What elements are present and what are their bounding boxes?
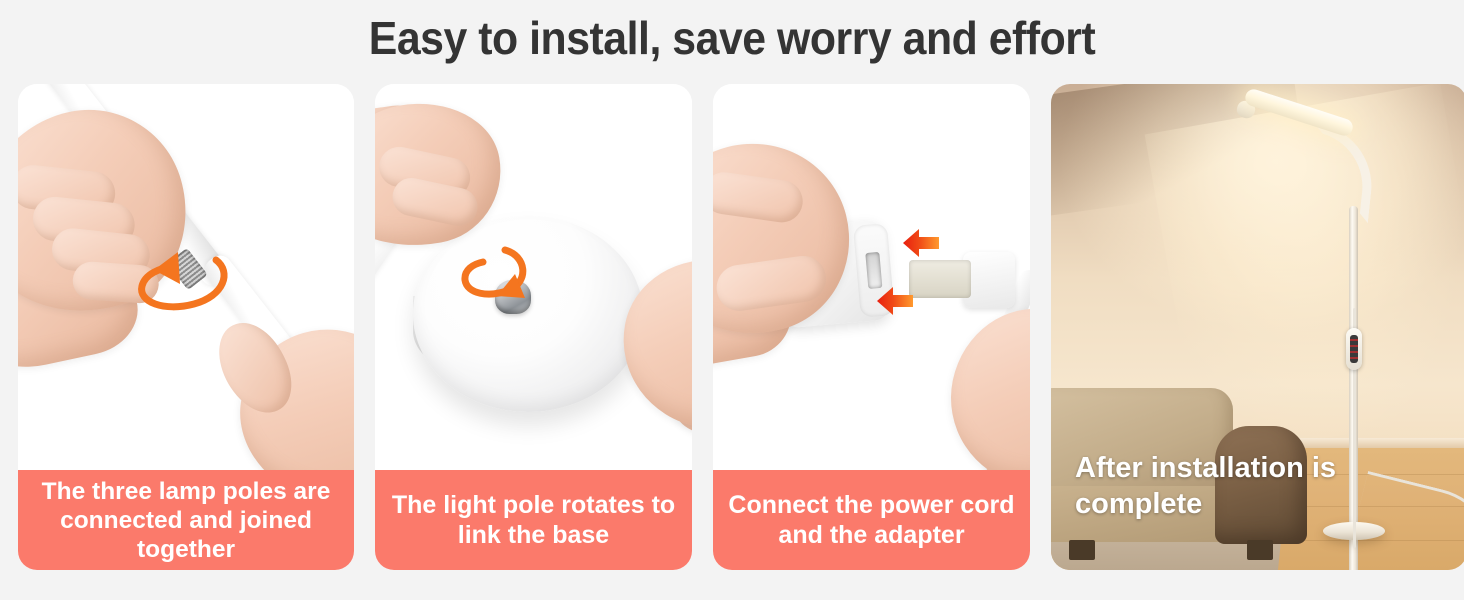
step-1-photo <box>18 84 354 470</box>
finger <box>713 170 805 226</box>
installation-steps-strip: The three lamp poles are connected and j… <box>18 84 1446 570</box>
sofa-leg <box>1069 540 1095 560</box>
step-card-2[interactable]: The light pole rotates to link the base <box>375 84 692 570</box>
thumb <box>714 253 829 314</box>
insert-arrow-icon <box>901 226 941 260</box>
rotate-arrow-icon <box>128 246 238 324</box>
step-4-photo: After installation is complete <box>1051 84 1464 570</box>
switch-buttons-icon <box>1350 335 1358 363</box>
rotate-arrow-icon <box>453 242 547 318</box>
step-card-4[interactable]: After installation is complete <box>1051 84 1464 570</box>
page-title: Easy to install, save worry and effort <box>51 8 1413 68</box>
step-4-caption: After installation is complete <box>1075 450 1464 522</box>
step-3-photo <box>713 84 1030 470</box>
step-card-3[interactable]: Connect the power cord and the adapter <box>713 84 1030 570</box>
step-3-caption: Connect the power cord and the adapter <box>713 470 1030 570</box>
inline-remote-switch[interactable] <box>1346 328 1362 370</box>
step-2-photo <box>375 84 692 470</box>
sofa-leg <box>1247 540 1273 560</box>
step-card-1[interactable]: The three lamp poles are connected and j… <box>18 84 354 570</box>
right-hand <box>935 294 1030 470</box>
step-1-caption: The three lamp poles are connected and j… <box>18 470 354 570</box>
step-2-caption: The light pole rotates to link the base <box>375 470 692 570</box>
insert-arrow-icon <box>875 284 915 318</box>
usb-plug-tip <box>909 260 971 298</box>
